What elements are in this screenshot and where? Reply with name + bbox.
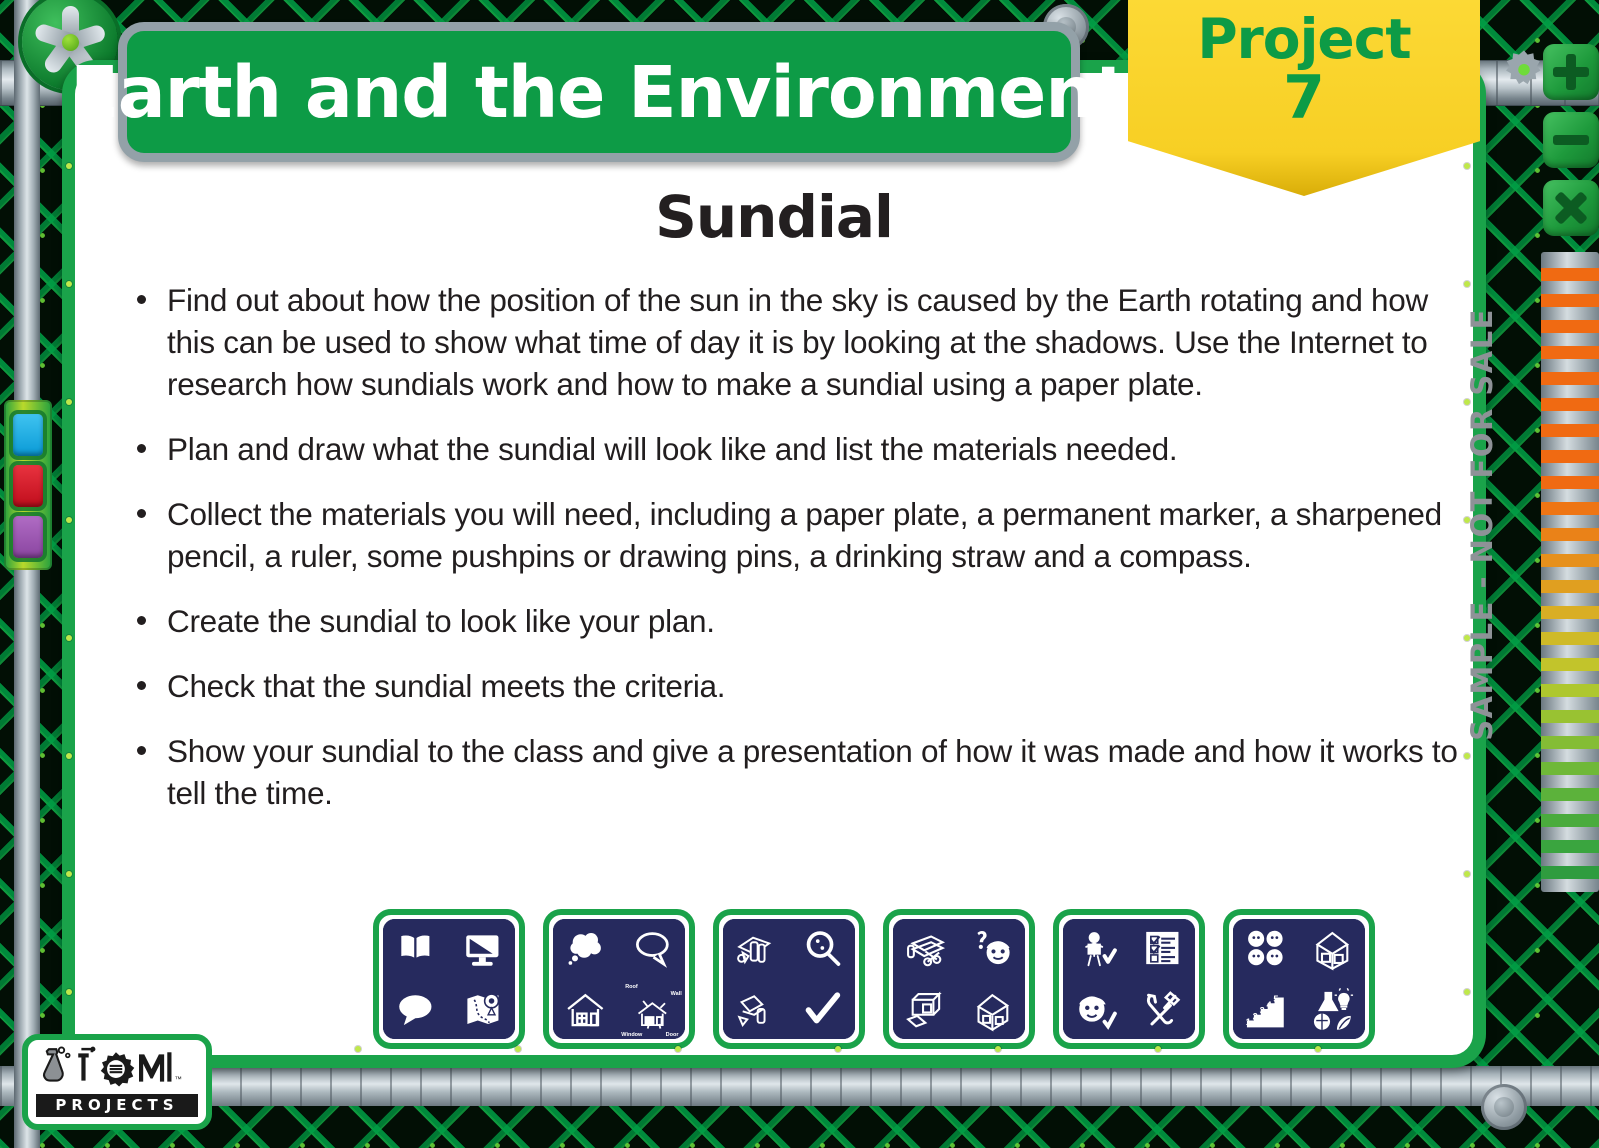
worksheet-page: Sundial Find out about how the position …: [0, 0, 1599, 1148]
level-segment: [1541, 684, 1599, 697]
worksheet-title: Earth and the Environment: [70, 57, 1128, 128]
numbered-steps-icon: 1 2 3 4 5: [1233, 980, 1298, 1039]
icon-group-test-and-evaluate: [1053, 909, 1205, 1049]
step-number-2: 2: [1253, 1012, 1258, 1022]
card-rivet: [835, 1046, 841, 1052]
sample-watermark: SAMPLE - NOT FOR SALE: [1465, 308, 1499, 741]
trademark-symbol: ™: [175, 1075, 182, 1084]
gear-icon: [1501, 46, 1547, 92]
level-segment: [1541, 294, 1599, 307]
level-segment: [1541, 398, 1599, 411]
task-list: Find out about how the position of the s…: [125, 279, 1463, 814]
skill-icon-strip: Roof Wall Window Door: [75, 909, 1473, 1049]
card-rivet: [66, 989, 72, 995]
list-item: Collect the materials you will need, inc…: [125, 493, 1463, 577]
box-model-icon: [893, 980, 958, 1039]
card-rivet: [1464, 163, 1470, 169]
purple-button[interactable]: [13, 516, 43, 558]
stem-projects-logo: ™ PROJECTS: [22, 1034, 212, 1130]
card-rivet: [1464, 753, 1470, 759]
times-button[interactable]: [1543, 180, 1599, 236]
project-badge-label: Project: [1197, 12, 1410, 67]
icon-group-research: [373, 909, 525, 1049]
card-rivet: [675, 1046, 681, 1052]
card-rivet: [66, 871, 72, 877]
house-model-icon: [1300, 919, 1365, 978]
stem-wordmark-graphic: ™: [37, 1046, 197, 1090]
card-rivet: [66, 163, 72, 169]
group-of-faces-icon: [1233, 919, 1298, 978]
house-label-door: Door: [666, 1032, 679, 1038]
list-item: Show your sundial to the class and give …: [125, 730, 1463, 814]
labelled-figure-check-icon: [1063, 919, 1128, 978]
plus-button[interactable]: [1543, 44, 1599, 100]
level-segment: [1541, 580, 1599, 593]
card-rivet: [515, 1046, 521, 1052]
face-check-icon: [1063, 980, 1128, 1039]
card-rivet: [355, 1046, 361, 1052]
card-rivet: [995, 1046, 1001, 1052]
tools-wrench-hammer-icon: [1130, 980, 1195, 1039]
list-item: Plan and draw what the sundial will look…: [125, 428, 1463, 470]
labelled-house-diagram-icon: Roof Wall Window Door: [620, 980, 685, 1039]
open-book-icon: [383, 919, 448, 978]
craft-supplies-scissors-icon: [893, 919, 958, 978]
level-segment: [1541, 866, 1599, 879]
level-segment: [1541, 450, 1599, 463]
card-rivet: [66, 281, 72, 287]
level-segment: [1541, 502, 1599, 515]
level-segment: [1541, 268, 1599, 281]
bottom-pipe-decoration: [0, 1066, 1599, 1106]
checklist-icon: [1130, 919, 1195, 978]
materials-tools-icon: [723, 919, 788, 978]
content-card: Sundial Find out about how the position …: [62, 60, 1486, 1068]
science-items-icon: [1300, 980, 1365, 1039]
stem-logo-subtitle: PROJECTS: [36, 1094, 198, 1117]
icon-group-share-and-present: 1 2 3 4 5: [1223, 909, 1375, 1049]
list-item: Find out about how the position of the s…: [125, 279, 1463, 405]
card-rivet: [66, 753, 72, 759]
materials-pile-icon: [723, 980, 788, 1039]
level-segment: [1541, 762, 1599, 775]
fan-hub: [62, 34, 79, 51]
magnifying-glass-icon: [790, 919, 855, 978]
list-item: Check that the sundial meets the criteri…: [125, 665, 1463, 707]
level-segment: [1541, 372, 1599, 385]
speech-bubble-icon: [383, 980, 448, 1039]
house-label-window: Window: [621, 1032, 642, 1038]
question-face-icon: [960, 919, 1025, 978]
level-segment: [1541, 658, 1599, 671]
level-segment: [1541, 814, 1599, 827]
card-rivet: [1464, 281, 1470, 287]
minus-button[interactable]: [1543, 112, 1599, 168]
house-label-roof: Roof: [625, 984, 638, 990]
project-badge-number: 7: [1283, 67, 1325, 130]
level-segment: [1541, 710, 1599, 723]
card-rivet: [1315, 1046, 1321, 1052]
card-rivet: [1464, 871, 1470, 877]
computer-monitor-icon: [450, 919, 515, 978]
level-segment: [1541, 736, 1599, 749]
level-segment: [1541, 346, 1599, 359]
house-model-icon: [960, 980, 1025, 1039]
level-indicator-bar: [1541, 252, 1599, 892]
red-button[interactable]: [13, 465, 43, 507]
left-control-panel: [4, 400, 52, 570]
checkmark-icon: [790, 980, 855, 1039]
level-segment: [1541, 632, 1599, 645]
worksheet-title-plate: Earth and the Environment: [118, 22, 1080, 162]
level-segment: [1541, 788, 1599, 801]
corner-bolt-bottom-right: [1481, 1084, 1527, 1130]
step-number-3: 3: [1260, 1006, 1265, 1016]
thought-bubble-icon: [553, 919, 618, 978]
card-rivet: [66, 517, 72, 523]
level-segment: [1541, 554, 1599, 567]
level-segment: [1541, 424, 1599, 437]
level-segment: [1541, 606, 1599, 619]
icon-group-make-and-build: [883, 909, 1035, 1049]
house-label-wall: Wall: [671, 991, 682, 997]
card-rivet: [66, 399, 72, 405]
icon-group-gather-materials: [713, 909, 865, 1049]
level-segment: [1541, 840, 1599, 853]
step-number-4: 4: [1267, 1000, 1273, 1010]
blue-button[interactable]: [13, 414, 43, 456]
icon-group-plan-and-design: Roof Wall Window Door: [543, 909, 695, 1049]
card-rivet: [66, 635, 72, 641]
stem-wordmark: ™: [37, 1046, 197, 1090]
step-number-1: 1: [1246, 1018, 1251, 1028]
house-drawing-icon: [553, 980, 618, 1039]
list-item: Create the sundial to look like your pla…: [125, 600, 1463, 642]
left-pipe-decoration: [14, 0, 40, 1148]
card-rivet: [1464, 989, 1470, 995]
card-rivet: [1155, 1046, 1161, 1052]
level-segment: [1541, 528, 1599, 541]
speech-bubble-icon: [620, 919, 685, 978]
map-pin-icon: [450, 980, 515, 1039]
level-segment: [1541, 320, 1599, 333]
page-title: Sundial: [97, 183, 1451, 251]
step-number-5: 5: [1274, 995, 1279, 1005]
level-segment: [1541, 476, 1599, 489]
